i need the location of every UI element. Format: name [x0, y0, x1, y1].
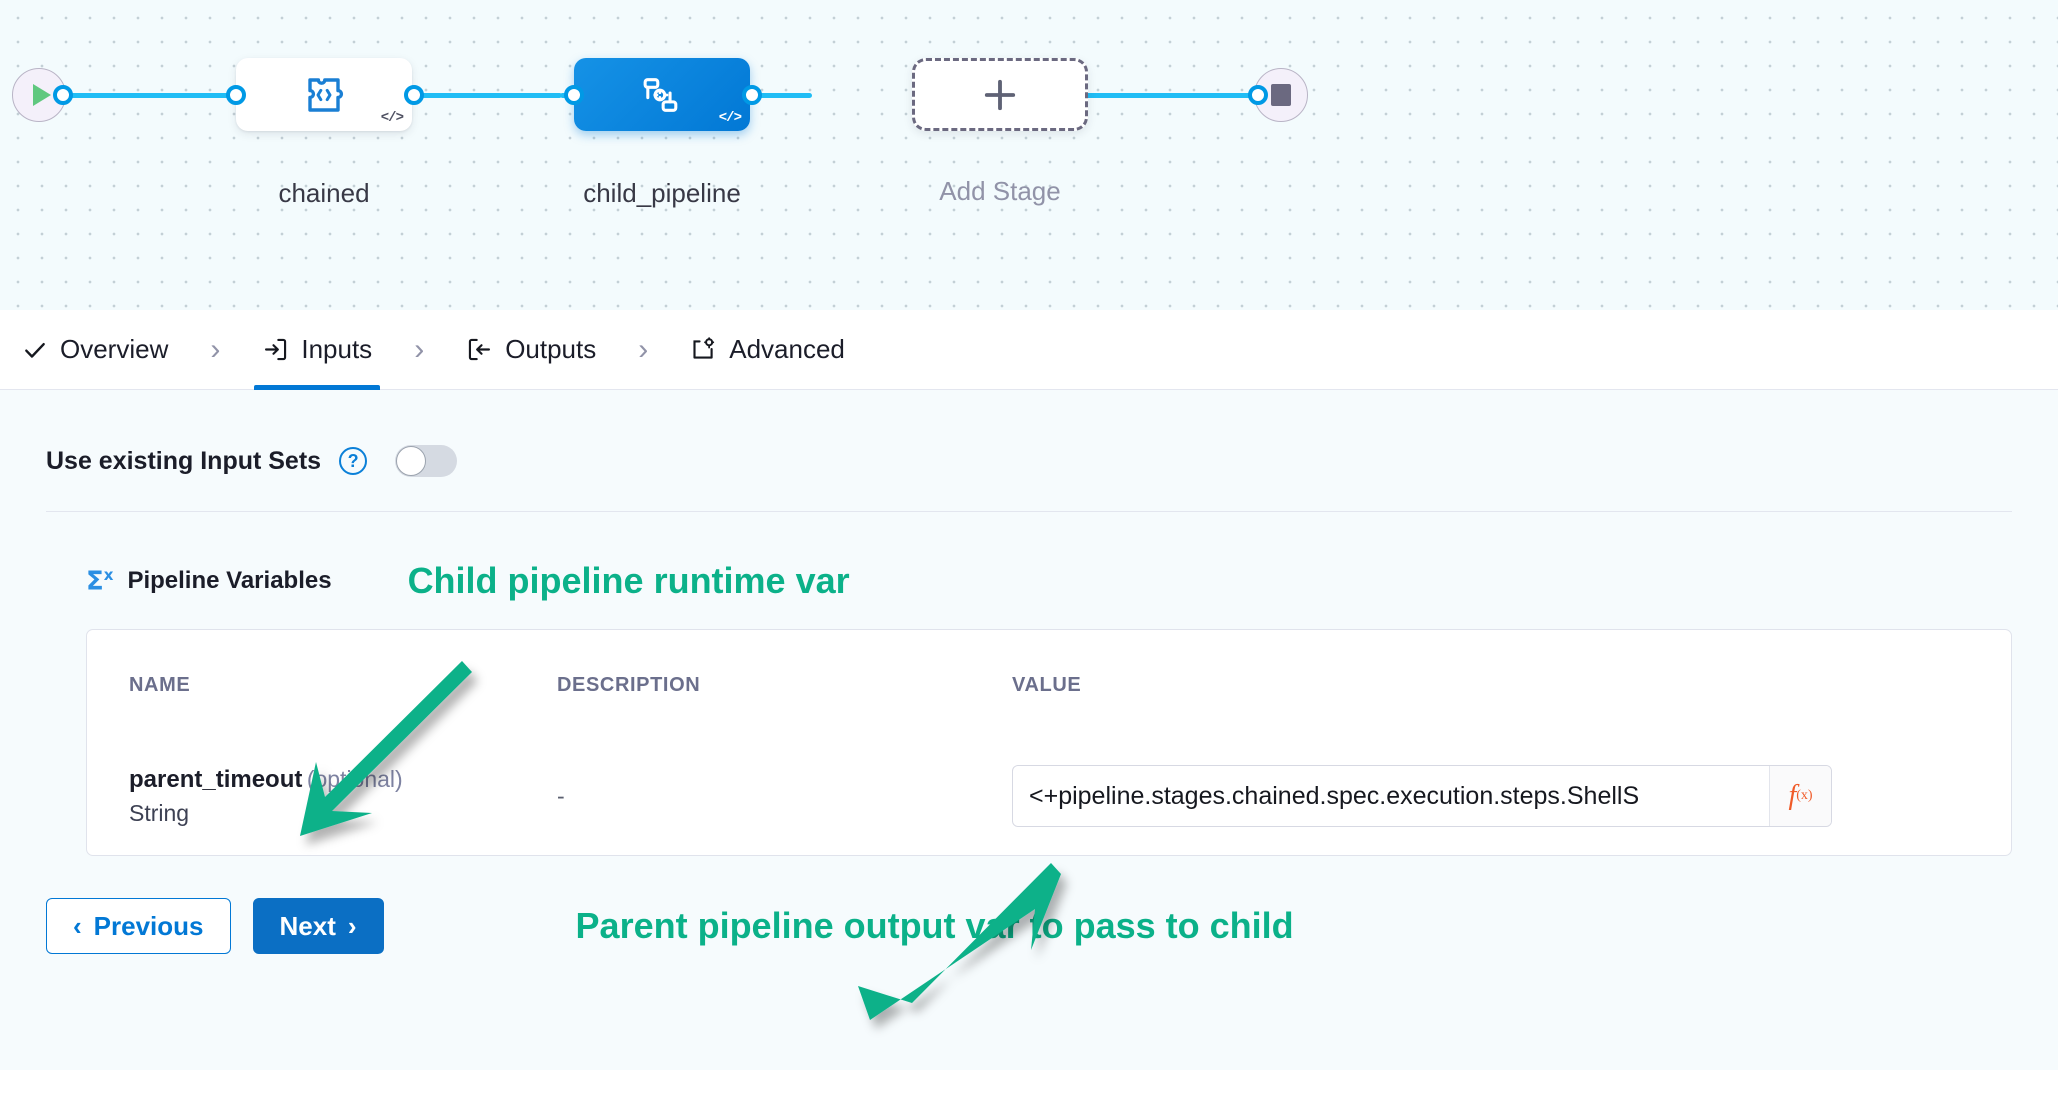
stage-label-child-pipeline: child_pipeline — [552, 178, 772, 209]
use-existing-input-sets-label: Use existing Input Sets — [46, 447, 321, 476]
wizard-footer: ‹ Previous Next › Parent pipeline output… — [0, 856, 2058, 954]
edge-start-to-chained — [44, 93, 242, 98]
tab-inputs[interactable]: Inputs — [246, 310, 388, 390]
tab-underline-active — [254, 385, 380, 390]
expression-fx-button[interactable]: f(x) — [1769, 766, 1831, 826]
use-existing-input-sets-row: Use existing Input Sets ? — [0, 390, 2058, 477]
stage-node-child-pipeline[interactable]: </> — [574, 58, 750, 131]
previous-button[interactable]: ‹ Previous — [46, 898, 231, 954]
tab-separator-2: › — [388, 333, 450, 367]
fx-label: f — [1788, 780, 1796, 812]
variable-name: parent_timeout — [129, 766, 302, 793]
use-existing-input-sets-toggle[interactable] — [395, 445, 457, 477]
port-chained-out[interactable] — [404, 85, 424, 105]
play-icon — [33, 84, 51, 106]
port-chained-in[interactable] — [226, 85, 246, 105]
port-end-in[interactable] — [1248, 85, 1268, 105]
chevron-left-icon: ‹ — [73, 911, 82, 942]
variable-name-cell: parent_timeout (optional) String — [87, 737, 557, 855]
header-spacer — [87, 697, 2011, 737]
tab-separator-3: › — [612, 333, 674, 367]
pipeline-variables-title: Pipeline Variables — [127, 567, 331, 595]
variable-value-input-wrapper[interactable]: f(x) — [1012, 765, 1832, 827]
column-header-value: VALUE — [1012, 630, 2011, 697]
step-tabs[interactable]: Overview › Inputs › Outputs › — [0, 310, 2058, 390]
variable-value-cell: f(x) — [1012, 737, 2011, 855]
outputs-arrow-icon — [466, 336, 493, 363]
bottom-strip — [0, 1070, 2058, 1120]
pipeline-variables-header: Σx Pipeline Variables Child pipeline run… — [0, 512, 2058, 602]
inputs-panel: Use existing Input Sets ? Σx Pipeline Va… — [0, 390, 2058, 1070]
custom-stage-icon — [300, 71, 348, 119]
variable-optional-tag: (optional) — [307, 766, 403, 792]
pipeline-variables-table: NAME DESCRIPTION VALUE parent_timeout (o… — [87, 630, 2011, 855]
stage-label-chained: chained — [236, 178, 412, 209]
code-badge-icon: </> — [381, 110, 403, 126]
tab-label-outputs: Outputs — [505, 334, 596, 365]
stop-icon — [1271, 84, 1291, 106]
variable-value-input[interactable] — [1013, 766, 1769, 826]
tab-label-advanced: Advanced — [729, 334, 845, 365]
variable-description: - — [557, 783, 565, 809]
chevron-right-icon: › — [348, 911, 357, 942]
advanced-gear-icon — [690, 336, 717, 363]
table-row: parent_timeout (optional) String - f(x) — [87, 737, 2011, 855]
pipeline-variables-card: NAME DESCRIPTION VALUE parent_timeout (o… — [86, 629, 2012, 856]
next-button[interactable]: Next › — [253, 898, 384, 954]
tab-label-overview: Overview — [60, 334, 168, 365]
pipeline-chaining-icon — [639, 72, 685, 118]
fx-sub: (x) — [1796, 788, 1812, 804]
help-icon[interactable]: ? — [339, 447, 367, 475]
tab-outputs[interactable]: Outputs — [450, 310, 612, 390]
previous-button-label: Previous — [94, 911, 204, 942]
tab-advanced[interactable]: Advanced — [674, 310, 861, 390]
variable-description-cell: - — [557, 737, 1012, 855]
annotation-bottom: Parent pipeline output var to pass to ch… — [576, 905, 1294, 947]
tab-label-inputs: Inputs — [301, 334, 372, 365]
code-badge-icon: </> — [719, 110, 741, 126]
stage-node-chained[interactable]: </> — [236, 58, 412, 131]
port-start-out[interactable] — [53, 85, 73, 105]
inputs-arrow-icon — [262, 336, 289, 363]
port-child-in[interactable] — [564, 85, 584, 105]
tab-overview[interactable]: Overview — [6, 310, 184, 390]
column-header-description: DESCRIPTION — [557, 630, 1012, 697]
table-header-row: NAME DESCRIPTION VALUE — [87, 630, 2011, 697]
next-button-label: Next — [280, 911, 336, 942]
plus-icon — [978, 73, 1022, 117]
variable-type: String — [129, 800, 557, 827]
add-stage-node[interactable] — [912, 58, 1088, 131]
toggle-knob — [396, 446, 426, 476]
annotation-top: Child pipeline runtime var — [408, 560, 850, 602]
pipeline-canvas[interactable]: </> chained </> child_pipeline Add Stage — [0, 0, 2058, 310]
tab-separator-1: › — [184, 333, 246, 367]
port-child-out[interactable] — [742, 85, 762, 105]
sigma-variable-icon: Σx — [86, 566, 113, 597]
add-stage-label: Add Stage — [892, 176, 1108, 207]
column-header-name: NAME — [87, 630, 557, 697]
check-icon — [22, 337, 48, 363]
